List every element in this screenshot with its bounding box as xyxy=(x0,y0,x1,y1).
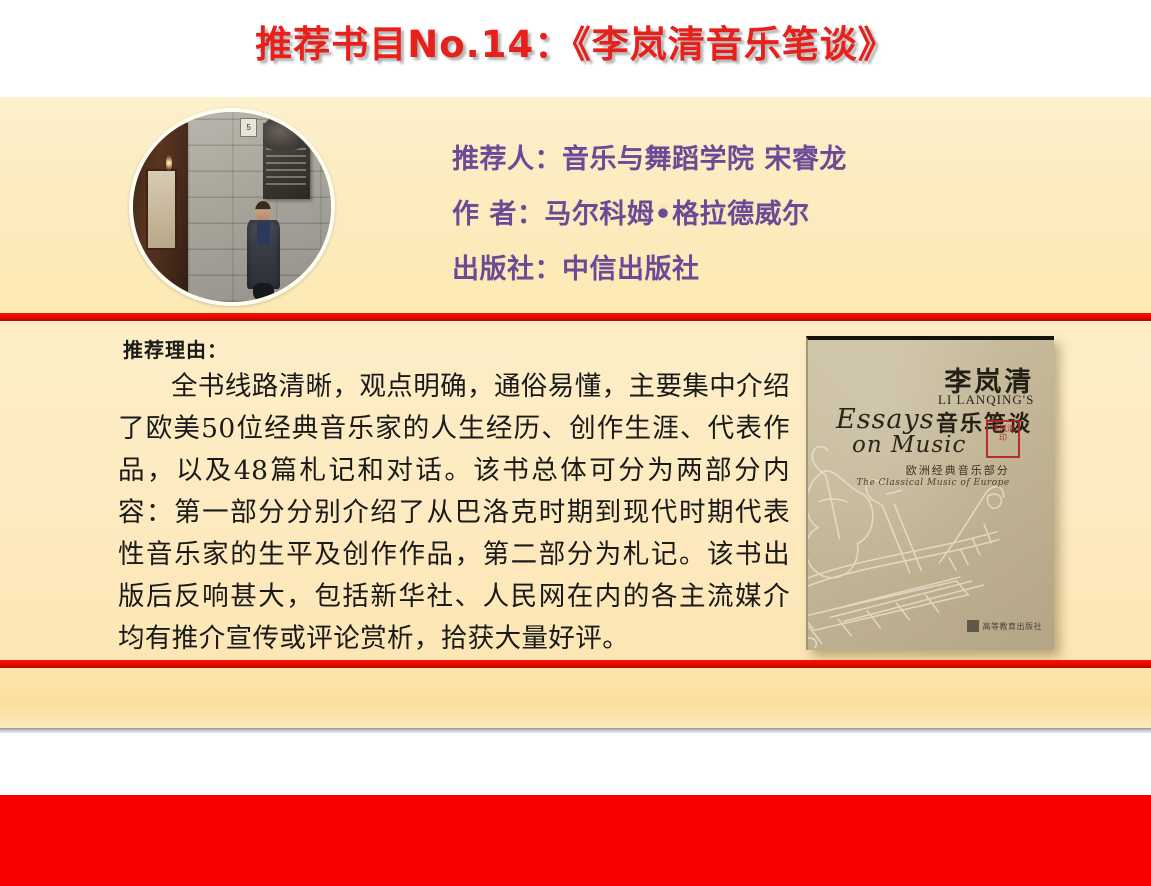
divider-bottom xyxy=(0,660,1151,668)
red-footer-band xyxy=(0,795,1151,886)
reason-body: 全书线路清晰，观点明确，通俗易懂，主要集中介绍了欧美50位经典音乐家的人生经历、… xyxy=(118,366,790,660)
book-title-en-line2: Essays xyxy=(836,404,935,435)
photo-stone-wall: 5 xyxy=(188,112,331,302)
white-gap xyxy=(0,733,1151,795)
book-meta-block: 推荐人：音乐与舞蹈学院 宋睿龙 推荐人：音乐与舞蹈学院 宋睿龙 作 者：马尔科姆… xyxy=(452,132,1092,297)
meta-author: 作 者：马尔科姆•格拉德威尔 作 者：马尔科姆•格拉德威尔 xyxy=(452,187,1092,242)
page-title: 推荐书目No.14：《李岚清音乐笔谈》 xyxy=(0,14,1151,68)
book-series-en: The Classical Music of Europe xyxy=(808,478,1010,488)
photo-door xyxy=(133,123,194,298)
meta-author-text: 作 者：马尔科姆•格拉德威尔 xyxy=(452,199,810,230)
photo-house-number: 5 xyxy=(240,118,258,137)
recommender-photo: 5 xyxy=(133,112,331,302)
reason-label: 推荐理由： xyxy=(123,334,228,363)
meta-publisher-text: 出版社：中信出版社 xyxy=(452,254,700,285)
book-series-cn: 欧洲经典音乐部分 xyxy=(808,462,1010,478)
divider-top xyxy=(0,313,1151,321)
photo-plaque-text xyxy=(266,148,306,188)
footer-panel xyxy=(0,668,1151,728)
photo-door-lamp xyxy=(166,155,171,171)
avatar: 5 xyxy=(129,108,335,306)
book-cover-image: 李岚清 LI LANQING'S Essays on Music 音乐笔谈 李岚… xyxy=(806,336,1054,650)
photo-plaque-relief xyxy=(263,116,306,150)
meta-recommender-text: 推荐人：音乐与舞蹈学院 宋睿龙 xyxy=(452,144,847,175)
slide-root: 推荐书目No.14：《李岚清音乐笔谈》 5 推荐 xyxy=(0,0,1151,886)
publisher-logo-icon xyxy=(967,620,979,632)
meta-recommender: 推荐人：音乐与舞蹈学院 宋睿龙 推荐人：音乐与舞蹈学院 宋睿龙 xyxy=(452,132,1092,187)
meta-publisher: 出版社：中信出版社 出版社：中信出版社 xyxy=(452,242,1092,297)
photo-person-bag xyxy=(253,283,274,302)
book-seal-stamp: 李岚清印 xyxy=(986,420,1020,458)
photo-door-glass xyxy=(146,169,177,250)
book-publisher-name: 高等教育出版社 xyxy=(983,621,1043,632)
photo-person-scarf xyxy=(257,222,270,245)
book-publisher-mark: 高等教育出版社 xyxy=(967,620,1043,632)
title-band: 推荐书目No.14：《李岚清音乐笔谈》 xyxy=(0,0,1151,97)
photo-person-head xyxy=(255,201,271,222)
